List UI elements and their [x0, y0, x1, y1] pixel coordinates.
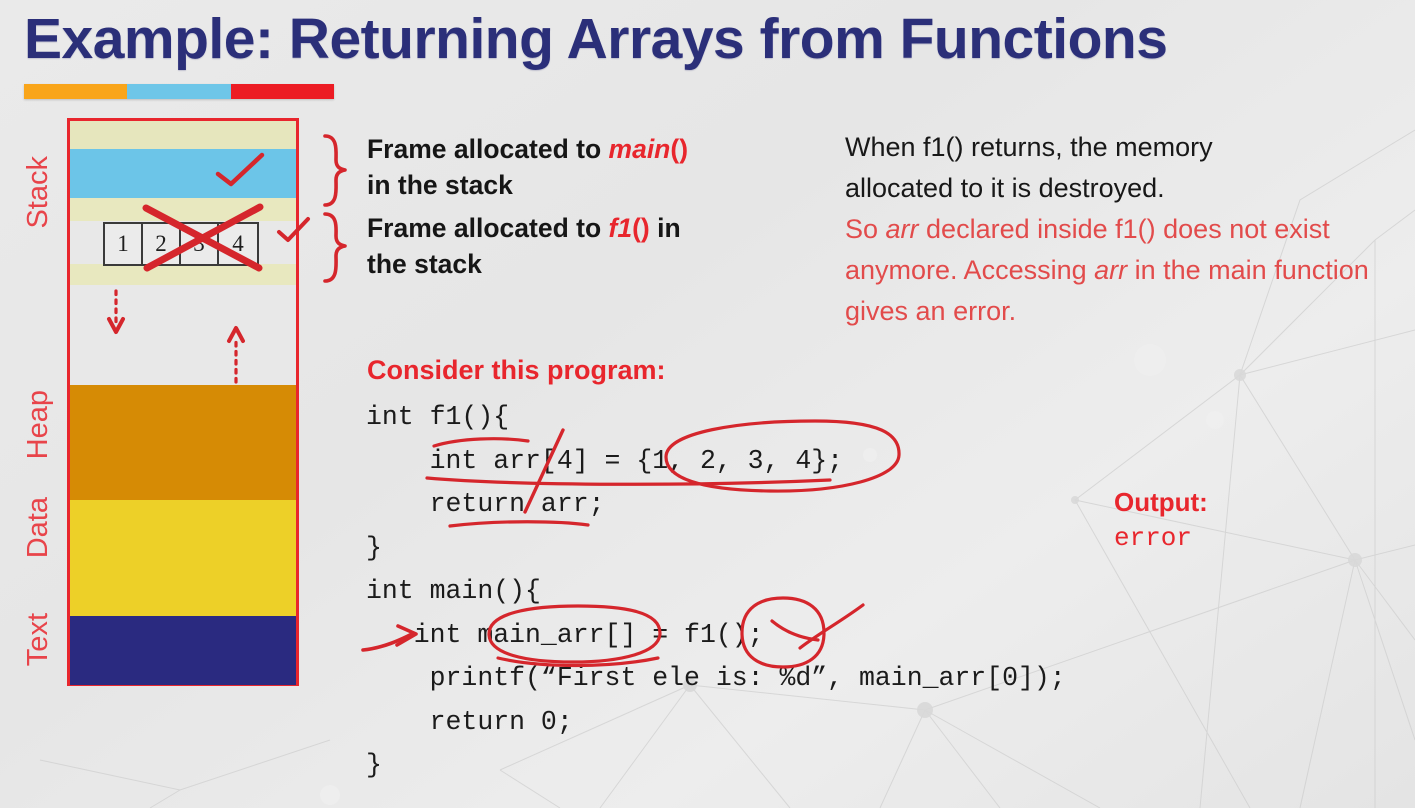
frame-note-f1-line2: the stack	[367, 249, 482, 279]
explanation-line-2: allocated to it is destroyed.	[845, 168, 1390, 209]
frame-note-f1-fn: f1	[609, 213, 633, 243]
frame-note-main-line2: in the stack	[367, 170, 513, 200]
brace-f1-frame	[325, 214, 345, 281]
accent-segment-orange	[24, 84, 127, 99]
frame-annotations: Frame allocated to main() in the stack F…	[367, 131, 767, 282]
stack-growth-arrows	[70, 121, 302, 689]
output-label: Output:	[1114, 487, 1208, 518]
code-line: return 0;	[366, 707, 573, 737]
memory-label-text: Text	[22, 613, 55, 666]
memory-layout-diagram: 1 2 3 4	[67, 118, 299, 686]
code-line: }	[366, 750, 382, 780]
code-line: }	[366, 533, 382, 563]
code-line: int main_arr[] = f1();	[366, 620, 764, 650]
explanation-red-part1: So	[845, 214, 886, 244]
accent-segment-blue	[127, 84, 230, 99]
frame-note-f1-parens: ()	[632, 213, 650, 243]
explanation-red-paragraph: So arr declared inside f1() does not exi…	[845, 209, 1390, 332]
frame-note-main-prefix: Frame allocated to	[367, 134, 609, 164]
title-accent-bar	[24, 84, 334, 99]
explanation-line-1: When f1() returns, the memory	[845, 127, 1390, 168]
memory-label-stack: Stack	[22, 156, 55, 229]
frame-note-f1-prefix: Frame allocated to	[367, 213, 609, 243]
frame-note-f1: Frame allocated to f1() in the stack	[367, 210, 767, 282]
page-title: Example: Returning Arrays from Functions	[24, 6, 1167, 72]
slide-root: Example: Returning Arrays from Functions…	[0, 0, 1415, 808]
frame-note-main-fn: main	[609, 134, 671, 164]
code-line: int arr[4] = {1, 2, 3, 4};	[366, 446, 843, 476]
output-value: error	[1114, 523, 1208, 553]
brace-main-frame	[325, 136, 345, 205]
code-line: int f1(){	[366, 402, 509, 432]
frame-note-main: Frame allocated to main() in the stack	[367, 131, 767, 203]
explanation-arr-italic-2: arr	[1094, 255, 1127, 285]
explanation-text: When f1() returns, the memory allocated …	[845, 127, 1390, 332]
explanation-arr-italic-1: arr	[886, 214, 919, 244]
code-heading: Consider this program:	[367, 355, 666, 386]
output-block: Output: error	[1114, 487, 1208, 553]
code-line: int main(){	[366, 576, 541, 606]
code-block: int f1(){ int arr[4] = {1, 2, 3, 4}; ret…	[366, 396, 1066, 788]
code-line: return arr;	[366, 489, 605, 519]
memory-label-data: Data	[22, 497, 55, 558]
accent-segment-red	[231, 84, 334, 99]
heap-grows-up-head	[229, 328, 243, 341]
memory-label-heap: Heap	[22, 390, 55, 459]
frame-note-main-parens: ()	[670, 134, 688, 164]
frame-note-f1-suffix: in	[650, 213, 681, 243]
code-line: printf(“First ele is: %d”, main_arr[0]);	[366, 663, 1066, 693]
